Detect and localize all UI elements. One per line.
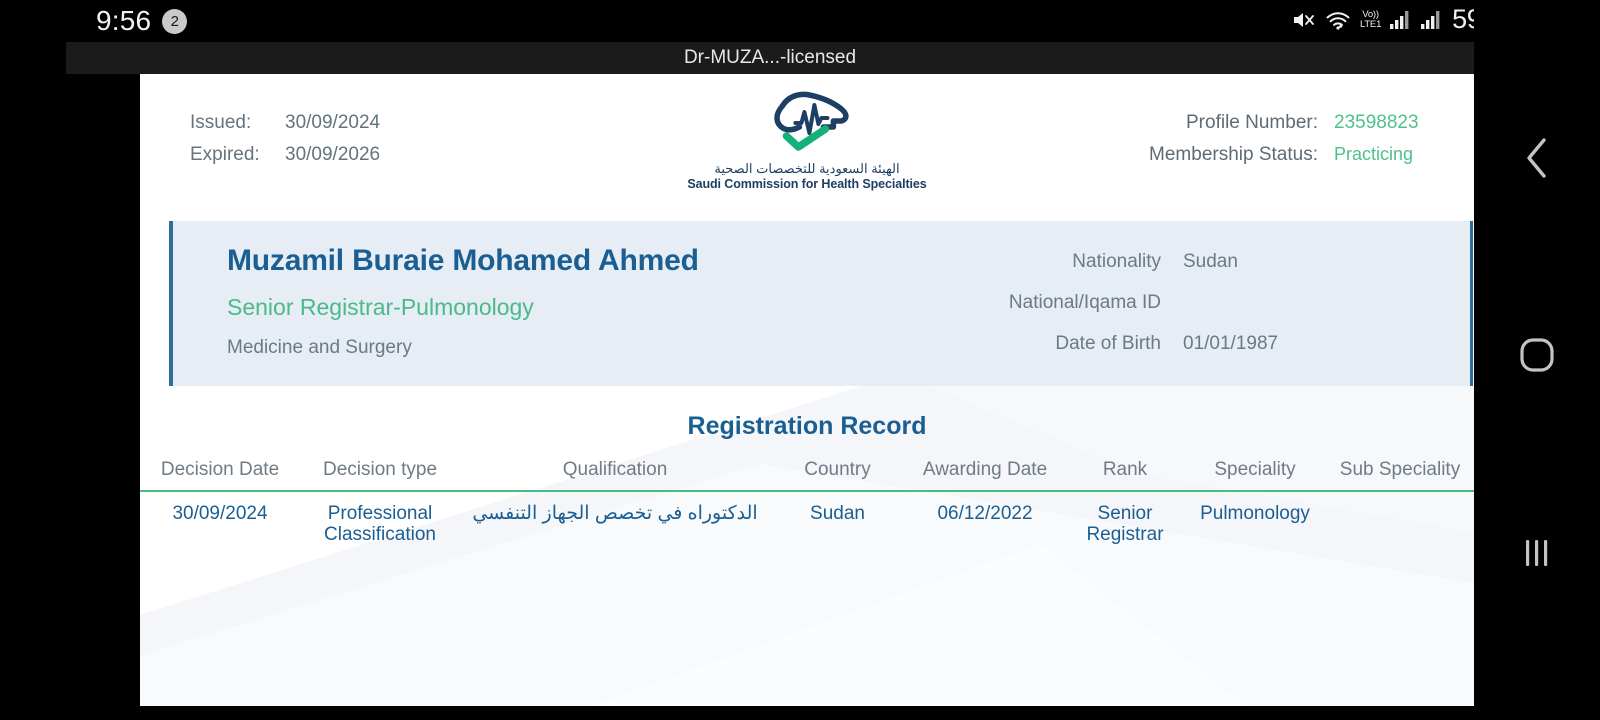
phone-screen: 9:56 2 Vo)) LTE1 bbox=[0, 0, 1600, 720]
date-of-birth-row: Date of Birth 01/01/1987 bbox=[1009, 333, 1333, 355]
profile-name: Muzamil Buraie Mohamed Ahmed bbox=[227, 244, 699, 278]
profile-number-row: Profile Number: 23598823 bbox=[1149, 112, 1452, 134]
date-of-birth-value: 01/01/1987 bbox=[1183, 333, 1333, 355]
column-header-rank: Rank bbox=[1065, 459, 1185, 491]
notification-count-badge: 2 bbox=[162, 9, 187, 34]
app-title-bar: Dr-MUZA...-licensed bbox=[66, 42, 1474, 74]
document-header: Issued: 30/09/2024 Expired: 30/09/2026 bbox=[140, 74, 1474, 192]
logo-english-name: Saudi Commission for Health Specialties bbox=[687, 177, 926, 191]
column-header-decision-date: Decision Date bbox=[140, 459, 300, 491]
back-button[interactable] bbox=[1474, 125, 1600, 191]
column-header-speciality: Speciality bbox=[1185, 459, 1325, 491]
cell-qualification: الدكتوراه في تخصص الجهاز التنفسي bbox=[460, 491, 770, 546]
status-bar: 9:56 2 Vo)) LTE1 bbox=[0, 0, 1600, 42]
cell-country: Sudan bbox=[770, 491, 905, 546]
national-id-label: National/Iqama ID bbox=[1009, 292, 1161, 314]
nationality-row: Nationality Sudan bbox=[1009, 251, 1333, 273]
registration-record-title: Registration Record bbox=[140, 412, 1474, 441]
signal-bars-icon-1 bbox=[1390, 10, 1412, 30]
recents-button[interactable] bbox=[1474, 520, 1600, 586]
issued-label: Issued: bbox=[190, 112, 285, 134]
column-header-decision-type: Decision type bbox=[300, 459, 460, 491]
profile-meta-block: Profile Number: 23598823 Membership Stat… bbox=[1149, 112, 1452, 176]
mute-icon bbox=[1292, 9, 1316, 31]
volte-bottom-label: LTE1 bbox=[1360, 20, 1381, 30]
membership-status-label: Membership Status: bbox=[1149, 144, 1318, 166]
app-title: Dr-MUZA...-licensed bbox=[684, 47, 856, 69]
scfhs-logo: الهيئة السعودية للتخصصات الصحية Saudi Co… bbox=[687, 88, 926, 191]
android-navigation-bar bbox=[1474, 0, 1600, 720]
signal-bars-icon-2 bbox=[1421, 10, 1443, 30]
membership-status-value: Practicing bbox=[1334, 144, 1452, 165]
profile-card: Muzamil Buraie Mohamed Ahmed Senior Regi… bbox=[169, 221, 1473, 386]
logo-arabic-name: الهيئة السعودية للتخصصات الصحية bbox=[687, 161, 926, 177]
date-of-birth-label: Date of Birth bbox=[1055, 333, 1161, 355]
cell-sub-speciality bbox=[1325, 491, 1474, 546]
expired-row: Expired: 30/09/2026 bbox=[190, 144, 380, 166]
saudi-map-ecg-icon bbox=[755, 88, 859, 154]
cell-decision-type: Professional Classification bbox=[300, 491, 460, 546]
nationality-value: Sudan bbox=[1183, 251, 1333, 273]
column-header-qualification: Qualification bbox=[460, 459, 770, 491]
cell-rank: Senior Registrar bbox=[1065, 491, 1185, 546]
expired-label: Expired: bbox=[190, 144, 285, 166]
nationality-label: Nationality bbox=[1072, 251, 1161, 273]
cell-awarding-date: 06/12/2022 bbox=[905, 491, 1065, 546]
document-page[interactable]: Issued: 30/09/2024 Expired: 30/09/2026 bbox=[140, 74, 1474, 706]
expired-value: 30/09/2026 bbox=[285, 144, 380, 166]
issued-row: Issued: 30/09/2024 bbox=[190, 112, 380, 134]
status-bar-left: 9:56 2 bbox=[96, 5, 187, 37]
column-header-sub-speciality: Sub Speciality bbox=[1325, 459, 1474, 491]
registration-table: Decision Date Decision type Qualificatio… bbox=[140, 459, 1474, 546]
national-id-row: National/Iqama ID bbox=[1009, 292, 1333, 314]
table-row: 30/09/2024 Professional Classification ا… bbox=[140, 491, 1474, 546]
column-header-country: Country bbox=[770, 459, 905, 491]
volte-icon: Vo)) LTE1 bbox=[1360, 10, 1381, 29]
issue-dates-block: Issued: 30/09/2024 Expired: 30/09/2026 bbox=[190, 112, 380, 176]
wifi-icon bbox=[1325, 9, 1351, 31]
cell-speciality: Pulmonology bbox=[1185, 491, 1325, 546]
profile-number-value: 23598823 bbox=[1334, 112, 1452, 134]
issued-value: 30/09/2024 bbox=[285, 112, 380, 134]
chevron-left-icon bbox=[1522, 135, 1552, 181]
cell-decision-date: 30/09/2024 bbox=[140, 491, 300, 546]
profile-identity-block: Muzamil Buraie Mohamed Ahmed Senior Regi… bbox=[227, 244, 699, 359]
table-header-row: Decision Date Decision type Qualificatio… bbox=[140, 459, 1474, 491]
profile-role: Senior Registrar-Pulmonology bbox=[227, 294, 699, 321]
profile-degree: Medicine and Surgery bbox=[227, 337, 699, 359]
column-header-awarding-date: Awarding Date bbox=[905, 459, 1065, 491]
profile-number-label: Profile Number: bbox=[1186, 112, 1318, 134]
status-clock: 9:56 bbox=[96, 5, 151, 37]
membership-status-row: Membership Status: Practicing bbox=[1149, 144, 1452, 166]
profile-details-block: Nationality Sudan National/Iqama ID Date… bbox=[1009, 251, 1333, 374]
recents-bars-icon bbox=[1520, 536, 1554, 570]
home-button[interactable] bbox=[1474, 322, 1600, 388]
home-circle-icon bbox=[1519, 337, 1555, 373]
